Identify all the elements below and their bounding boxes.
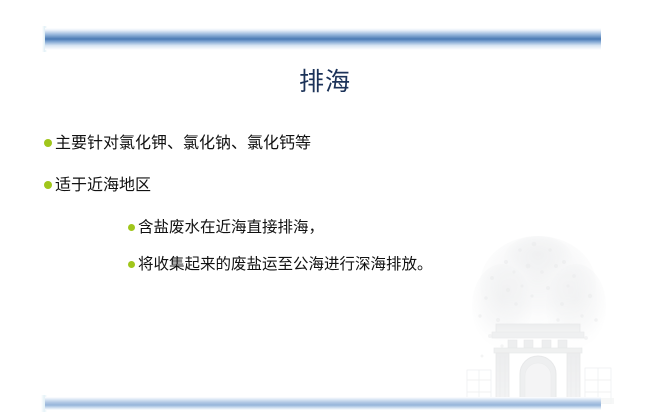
sub-bullet-item-1: 含盐废水在近海直接排海， bbox=[0, 216, 650, 238]
sub-bullet-item-2: 将收集起来的废盐运至公海进行深海排放。 bbox=[0, 253, 650, 275]
bullet-item-1: 主要针对氯化钾、氯化钠、氯化钙等 bbox=[0, 132, 650, 154]
top-accent-bar bbox=[45, 28, 601, 50]
bullet-text-2: 适于近海地区 bbox=[55, 174, 151, 196]
slide-body-content: 主要针对氯化钾、氯化钠、氯化钙等 适于近海地区 含盐废水在近海直接排海， 将收集… bbox=[0, 132, 650, 290]
bullet-text-1: 主要针对氯化钾、氯化钠、氯化钙等 bbox=[55, 132, 311, 154]
bottom-accent-bar bbox=[45, 397, 601, 410]
bullet-dot-icon bbox=[44, 139, 52, 147]
sub-bullet-text-1: 含盐废水在近海直接排海， bbox=[138, 216, 324, 238]
bullet-item-2: 适于近海地区 bbox=[0, 174, 650, 196]
slide-title: 排海 bbox=[0, 66, 650, 98]
presentation-slide: 排海 主要针对氯化钾、氯化钠、氯化钙等 适于近海地区 含盐废水在近海直接排海， … bbox=[0, 0, 650, 419]
bullet-dot-icon bbox=[44, 181, 52, 189]
sub-bullet-text-2: 将收集起来的废盐运至公海进行深海排放。 bbox=[138, 253, 433, 275]
bullet-dot-icon bbox=[128, 261, 135, 268]
bullet-dot-icon bbox=[128, 224, 135, 231]
